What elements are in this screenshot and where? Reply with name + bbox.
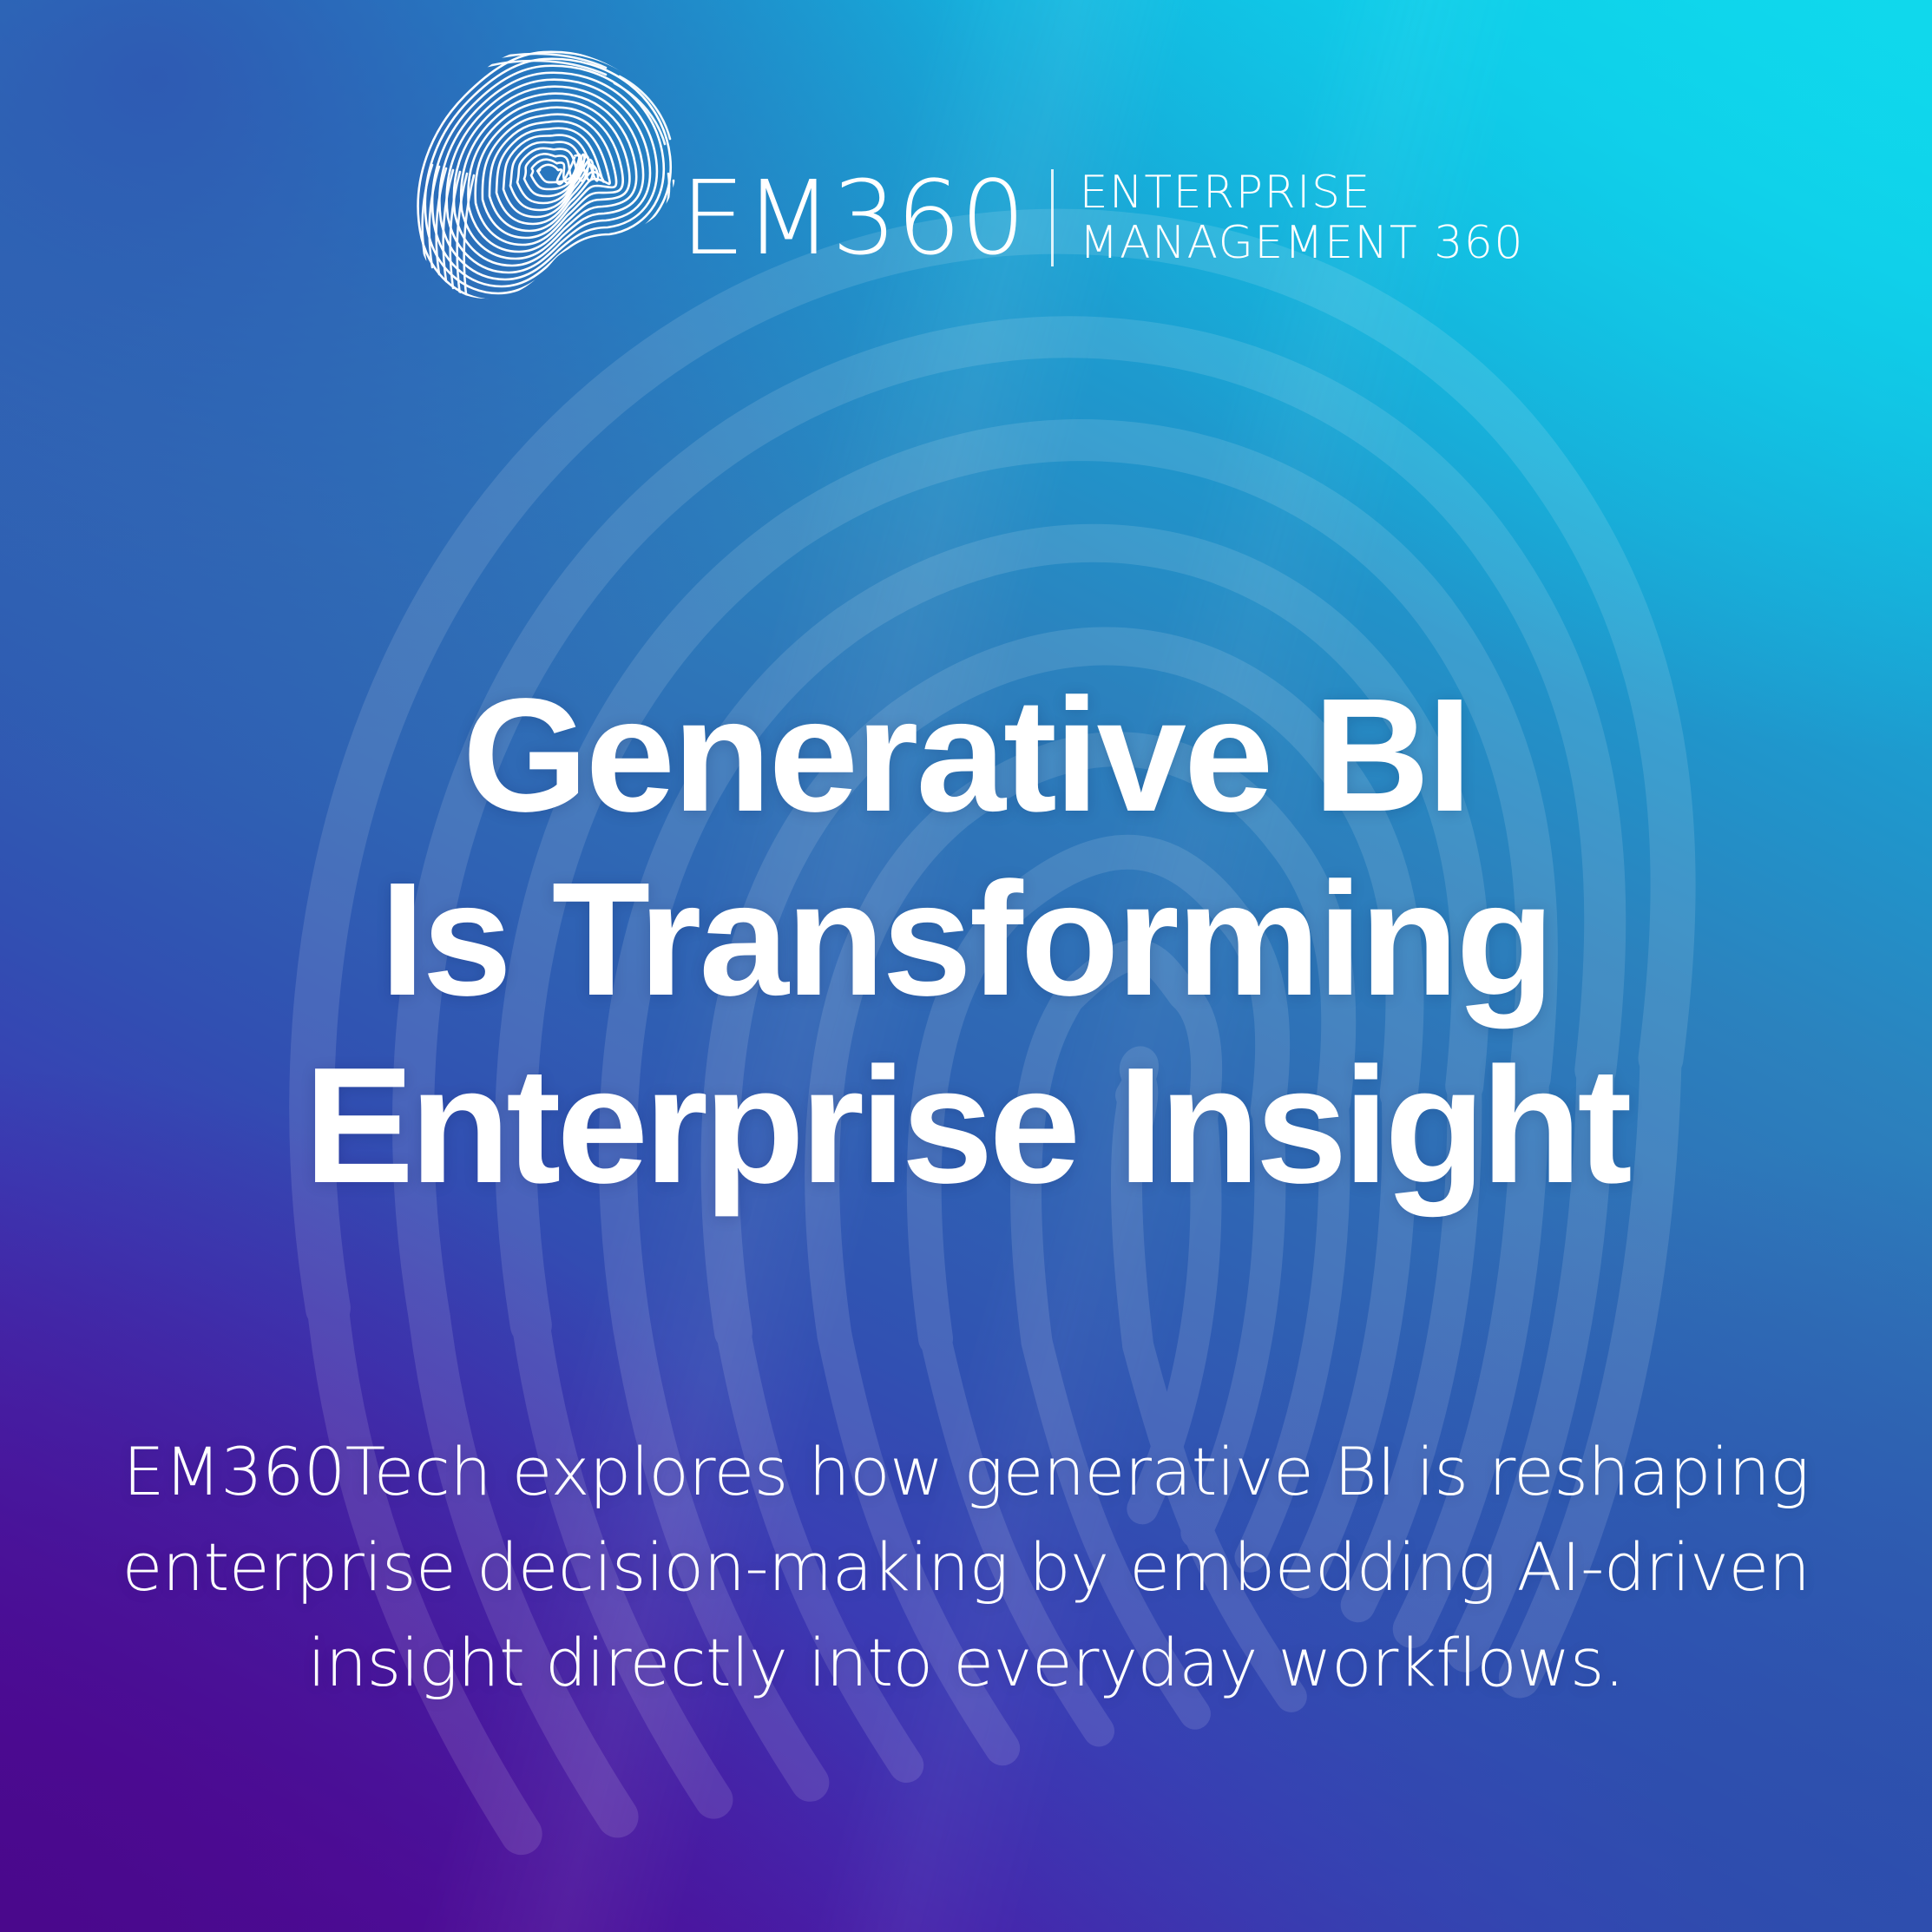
- brand-tagline: ENTERPRISE MANAGEMENT 360: [1080, 168, 1524, 268]
- brand-logo-text: EM360 ENTERPRISE MANAGEMENT 360: [680, 167, 1524, 295]
- headline-line-2: Is Transforming: [12, 848, 1920, 1032]
- brand-tagline-line1: ENTERPRISE: [1080, 168, 1524, 218]
- brand-wordmark: EM360: [680, 167, 1025, 269]
- headline-line-3: Enterprise Insight: [12, 1032, 1920, 1220]
- fingerprint-logo-icon: [408, 43, 686, 304]
- headline-line-1: Generative BI: [12, 664, 1920, 848]
- body-paragraph: EM360Tech explores how generative BI is …: [95, 1424, 1837, 1712]
- brand-tagline-line2: MANAGEMENT 360: [1080, 218, 1524, 268]
- logo-divider: [1051, 169, 1054, 266]
- headline: Generative BI Is Transforming Enterprise…: [0, 664, 1932, 1220]
- social-card: EM360 ENTERPRISE MANAGEMENT 360 Generati…: [0, 0, 1932, 1932]
- brand-logo-lockup: EM360 ENTERPRISE MANAGEMENT 360: [0, 35, 1932, 295]
